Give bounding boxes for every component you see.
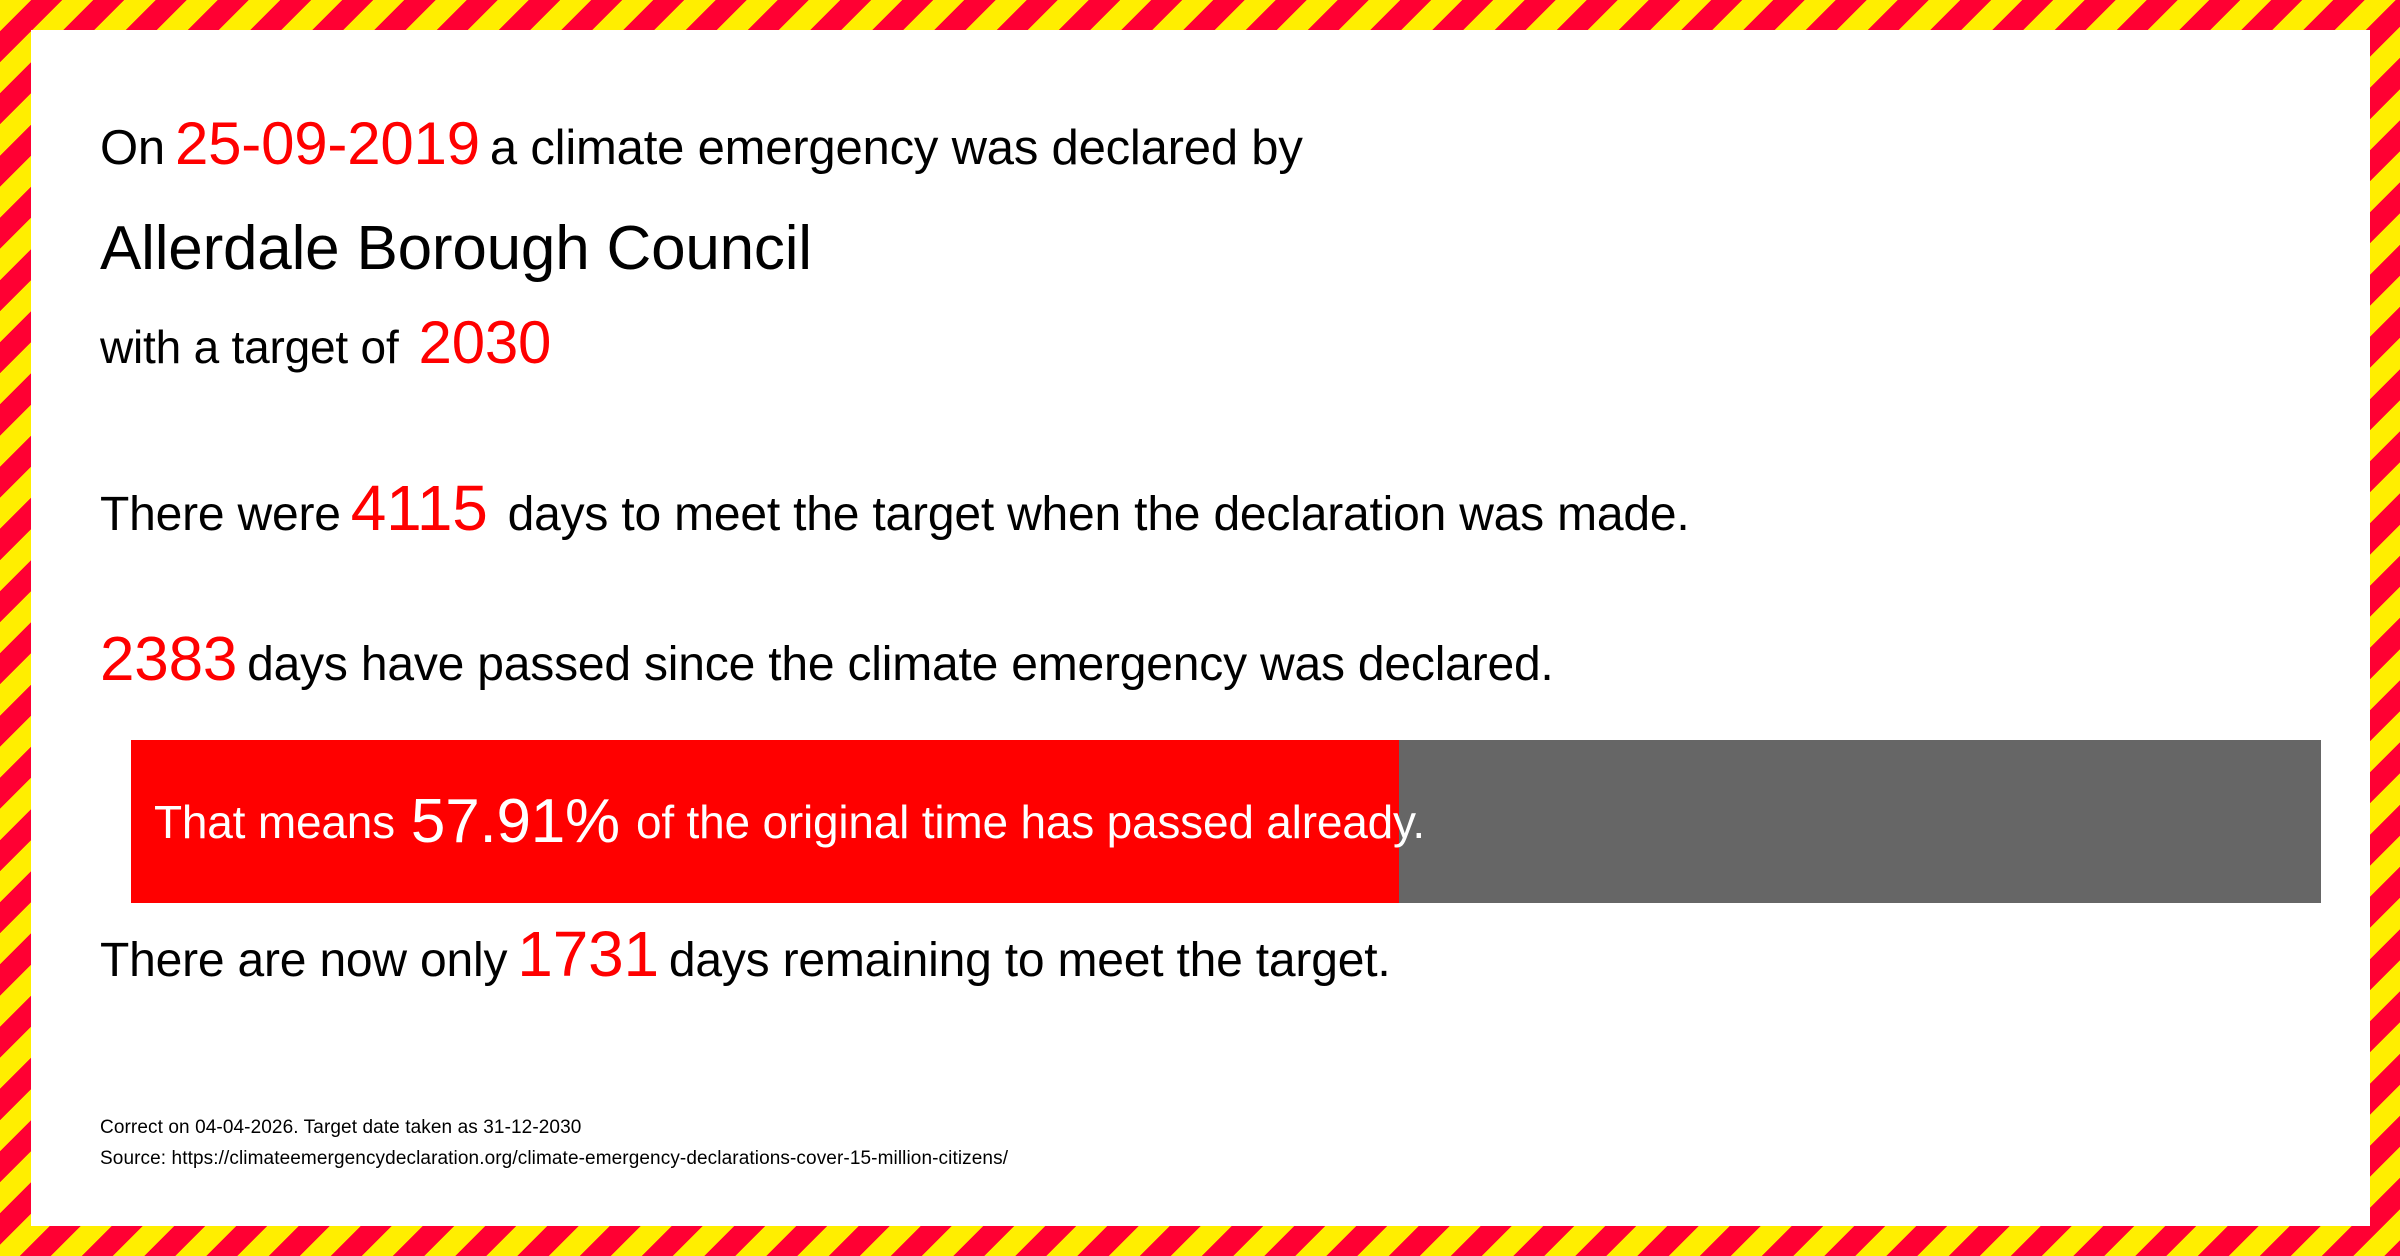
progress-label-prefix: That means: [154, 795, 395, 849]
days-passed-line: 2383days have passed since the climate e…: [100, 634, 1554, 691]
days-available-prefix: There were: [100, 488, 341, 541]
progress-bar-label: That means57.91%of the original time has…: [154, 740, 1425, 903]
footnote-source: Source: https://climateemergencydeclarat…: [100, 1143, 1008, 1174]
days-remaining-prefix: There are now only: [100, 934, 507, 987]
declaration-line: On25-09-2019a climate emergency was decl…: [100, 118, 1303, 174]
content-card: On25-09-2019a climate emergency was decl…: [31, 30, 2370, 1226]
days-passed-value: 2383: [100, 625, 237, 694]
progress-label-suffix: of the original time has passed already.: [636, 795, 1425, 849]
days-available-line: There were4115days to meet the target wh…: [100, 482, 1690, 541]
footnotes: Correct on 04-04-2026. Target date taken…: [100, 1112, 1008, 1174]
progress-percent-value: 57.91%: [405, 786, 626, 857]
target-year: 2030: [419, 309, 552, 376]
climate-emergency-card: On25-09-2019a climate emergency was decl…: [0, 0, 2400, 1256]
target-prefix: with a target of: [100, 321, 399, 373]
content-inner: On25-09-2019a climate emergency was decl…: [100, 30, 2370, 1226]
council-name: Allerdale Borough Council: [100, 216, 812, 282]
declaration-prefix: On: [100, 121, 165, 175]
footnote-correct-on: Correct on 04-04-2026. Target date taken…: [100, 1112, 1008, 1143]
target-line: with a target of2030: [100, 318, 551, 372]
days-passed-suffix: days have passed since the climate emerg…: [247, 638, 1553, 691]
declaration-suffix: a climate emergency was declared by: [490, 121, 1303, 175]
days-available-value: 4115: [351, 472, 488, 544]
declaration-date: 25-09-2019: [175, 110, 480, 177]
days-available-suffix: days to meet the target when the declara…: [508, 488, 1690, 541]
days-remaining-value: 1731: [517, 918, 659, 990]
days-remaining-suffix: days remaining to meet the target.: [669, 934, 1391, 987]
progress-bar-track: That means57.91%of the original time has…: [131, 740, 2321, 903]
days-remaining-line: There are now only1731days remaining to …: [100, 928, 1390, 987]
